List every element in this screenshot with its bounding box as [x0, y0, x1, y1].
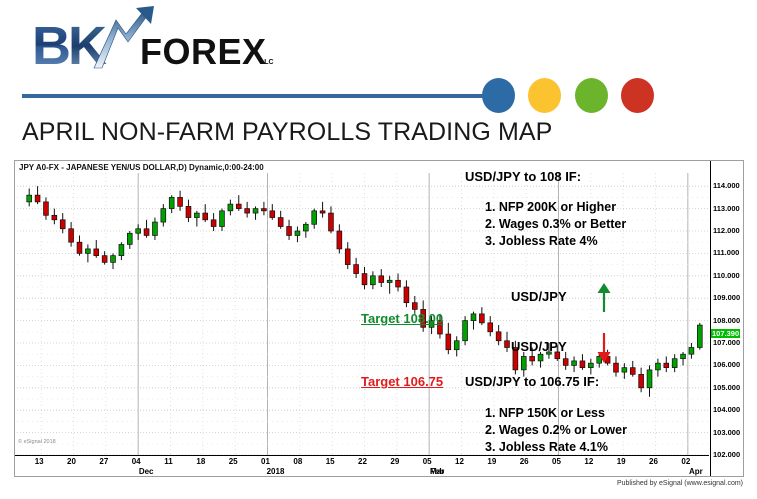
date-tick: 15	[326, 457, 335, 466]
dot-green	[575, 78, 608, 113]
price-tick: 109.000	[713, 293, 740, 302]
annotation-bottom-heading: USD/JPY to 106.75 IF:	[465, 374, 599, 389]
annotation-top-bullet-3: 3. Jobless Rate 4%	[485, 233, 598, 249]
annotation-bottom-bullet-2: 2. Wages 0.2% or Lower	[485, 422, 627, 438]
date-tick: 29	[390, 457, 399, 466]
header-dots	[482, 78, 663, 114]
svg-text:LLC: LLC	[260, 59, 274, 66]
date-tick: 25	[229, 457, 238, 466]
target-down-label: Target 106.75	[361, 374, 443, 389]
page-title: APRIL NON-FARM PAYROLLS TRADING MAP	[22, 118, 552, 147]
target-up-label: Target 108.00	[361, 311, 443, 326]
date-tick: 18	[196, 457, 205, 466]
price-tick: 106.000	[713, 360, 740, 369]
price-tick: 114.000	[713, 181, 740, 190]
annotation-top-bullet-1: 1. NFP 200K or Higher	[485, 199, 616, 215]
price-tick: 110.000	[713, 271, 740, 280]
price-tick: 102.000	[713, 450, 740, 459]
annotation-bottom-bullet-3: 3. Jobless Rate 4.1%	[485, 439, 608, 455]
arrow-down-icon	[595, 333, 613, 363]
date-tick: 19	[617, 457, 626, 466]
date-tick: 01	[261, 457, 270, 466]
date-tick: 05	[552, 457, 561, 466]
date-tick: 13	[35, 457, 44, 466]
annotation-top-bullet-2: 2. Wages 0.3% or Better	[485, 216, 626, 232]
footer-credit: Published by eSignal (www.esignal.com)	[617, 480, 743, 487]
bk-forex-logo: B K FOREX LLC	[32, 6, 282, 78]
price-tick: 105.000	[713, 383, 740, 392]
date-tick: 12	[455, 457, 464, 466]
dot-blue	[482, 78, 515, 113]
dot-red	[621, 78, 654, 113]
date-tick: 22	[358, 457, 367, 466]
chart-container: JPY A0-FX - JAPANESE YEN/US DOLLAR,D) Dy…	[14, 160, 744, 477]
price-tick: 108.000	[713, 316, 740, 325]
month-label: 2018	[267, 467, 285, 476]
date-tick: 26	[649, 457, 658, 466]
date-tick: 27	[99, 457, 108, 466]
month-label: Mar	[430, 467, 444, 476]
dot-yellow	[528, 78, 561, 113]
chart-title: JPY A0-FX - JAPANESE YEN/US DOLLAR,D) Dy…	[19, 163, 264, 172]
annotation-pair-up: USD/JPY	[511, 289, 567, 304]
date-tick: 08	[293, 457, 302, 466]
date-tick: 19	[487, 457, 496, 466]
svg-text:FOREX: FOREX	[140, 31, 267, 72]
date-axis[interactable]: 1320270411182501081522290512192605121926…	[15, 455, 709, 477]
price-tick: 113.000	[713, 204, 740, 213]
price-tick: 111.000	[713, 248, 739, 257]
date-tick: 04	[132, 457, 141, 466]
price-axis[interactable]: 114.000113.000112.000111.000110.000109.0…	[710, 161, 743, 476]
esignal-watermark: © eSignal 2018	[18, 439, 56, 445]
month-label: Apr	[689, 467, 703, 476]
price-tick: 104.000	[713, 405, 740, 414]
date-tick: 05	[423, 457, 432, 466]
price-tick: 103.000	[713, 428, 740, 437]
price-tick: 107.000	[713, 338, 740, 347]
date-tick: 20	[67, 457, 76, 466]
date-tick: 11	[164, 457, 172, 466]
price-tick: 112.000	[713, 226, 740, 235]
date-tick: 12	[584, 457, 593, 466]
annotation-pair-down: USD/JPY	[511, 339, 567, 354]
annotation-bottom-bullet-1: 1. NFP 150K or Less	[485, 405, 605, 421]
arrow-up-icon	[595, 283, 613, 313]
date-tick: 26	[520, 457, 529, 466]
header-rule	[22, 94, 512, 98]
last-price-label: 107.390	[711, 329, 740, 338]
date-tick: 02	[681, 457, 690, 466]
svg-text:B: B	[32, 16, 69, 76]
month-label: Dec	[139, 467, 154, 476]
annotation-top-heading: USD/JPY to 108 IF:	[465, 169, 581, 184]
